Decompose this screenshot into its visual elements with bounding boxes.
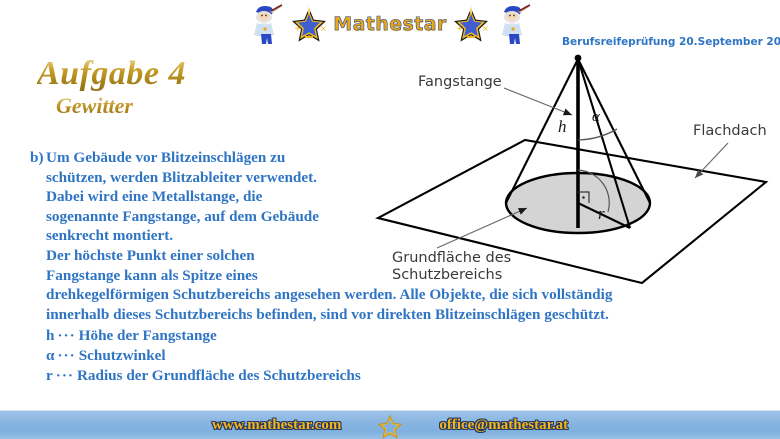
paragraph-b: b) Um Gebäude vor Blitzeinschlägen zu sc… (30, 148, 760, 385)
label-flachdach: Flachdach (693, 123, 767, 139)
star-icon: + × (289, 6, 329, 42)
svg-text:+: + (294, 24, 302, 34)
list-marker: b) (30, 148, 44, 168)
footer-website-link[interactable]: www.mathestar.com (212, 417, 341, 434)
body-line: senkrecht montiert. (46, 226, 406, 246)
label-height-h: h (558, 117, 567, 136)
footer-bar: www.mathestar.com office@mathestar.at (0, 410, 780, 439)
definition-item: h···Höhe der Fangstange (46, 326, 760, 346)
body-line: schützen, werden Blitzableiter verwendet… (46, 168, 406, 188)
body-line: Dabei wird eine Metallstange, die (46, 187, 406, 207)
definition-item: α···Schutzwinkel (46, 346, 760, 366)
brand-name: Mathestar (333, 13, 446, 35)
brand-logo-strip: + × Mathestar + × (245, 2, 535, 46)
definition-text: Schutzwinkel (79, 347, 166, 364)
label-angle-alpha: α (592, 109, 601, 125)
leader-line-fangstange (504, 88, 572, 115)
body-line: Der höchste Punkt einer solchen (46, 246, 406, 266)
star-icon (375, 413, 405, 439)
definition-text: Höhe der Fangstange (79, 327, 217, 344)
task-body-text: b) Um Gebäude vor Blitzeinschlägen zu sc… (30, 148, 760, 385)
definition-item: r···Radius der Grundfläche des Schutzber… (46, 366, 760, 386)
label-fangstange: Fangstange (418, 74, 502, 90)
body-line: drehkegelförmigen Schutzbereichs angeseh… (46, 285, 760, 305)
svg-text:×: × (320, 24, 327, 33)
exam-header-text: Berufsreifeprüfung 20.September 2019 (562, 36, 780, 48)
page-title: Aufgabe 4 (37, 55, 186, 93)
definition-text: Radius der Grundfläche des Schutzbereich… (77, 367, 361, 384)
cone-apex-point (575, 55, 582, 62)
definition-symbol: r (46, 367, 53, 384)
slide-canvas: + × Mathestar + × Beru (0, 0, 780, 439)
definition-separator: ··· (54, 327, 78, 344)
svg-text:×: × (482, 24, 489, 33)
definition-list: h···Höhe der Fangstange α···Schutzwinkel… (46, 326, 760, 385)
definition-separator: ··· (54, 347, 78, 364)
wizard-icon (495, 3, 533, 45)
page-subtitle: Gewitter (56, 93, 133, 119)
body-line: innerhalb dieses Schutzbereichs befinden… (46, 305, 760, 325)
angle-alpha-arc (578, 129, 617, 140)
body-line: Fangstange kann als Spitze eines (46, 266, 406, 286)
wizard-icon (247, 3, 285, 45)
star-icon: + × (451, 6, 491, 42)
body-line: sogenannte Fangstange, auf dem Gebäude (46, 207, 406, 227)
footer-email-link[interactable]: office@mathestar.at (439, 417, 568, 434)
body-line: Um Gebäude vor Blitzeinschlägen zu (46, 148, 406, 168)
svg-text:+: + (456, 24, 464, 34)
paragraph-lines: Um Gebäude vor Blitzeinschlägen zu schüt… (30, 148, 760, 385)
definition-separator: ··· (53, 367, 77, 384)
